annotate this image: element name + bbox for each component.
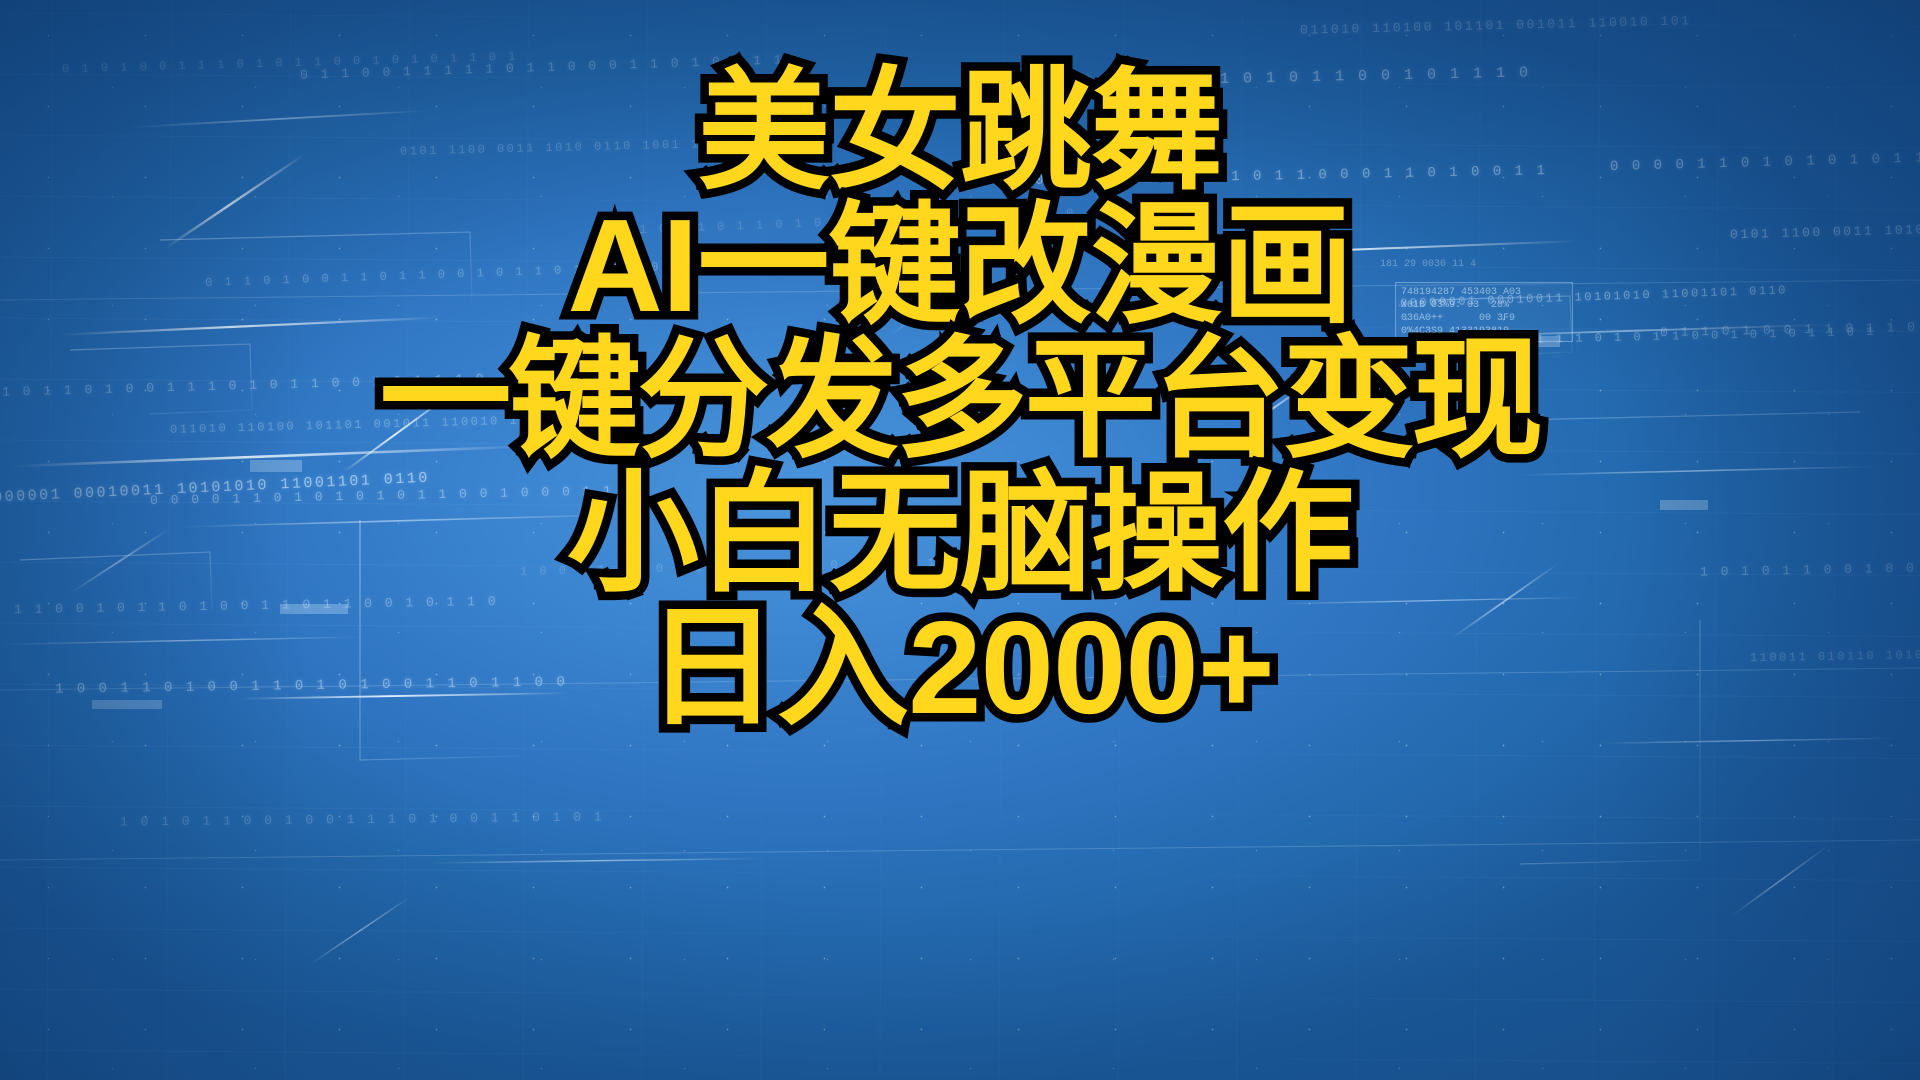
headline-line-1: 美女跳舞 [692,66,1228,198]
poster-canvas: 1 0 1 1 0 1 0 0 1 1 1 0 1 0 1 1 0 0 1 0 … [0,0,1920,1080]
headline-block: 美女跳舞 AI一键改漫画 一键分发多平台变现 小白无脑操作 日入2000+ [0,66,1920,734]
headline-line-3: 一键分发多平台变现 [374,334,1547,466]
headline-line-5: 日入2000+ [640,602,1280,734]
headline-line-2: AI一键改漫画 [562,200,1359,332]
headline-line-4: 小白无脑操作 [561,468,1359,600]
